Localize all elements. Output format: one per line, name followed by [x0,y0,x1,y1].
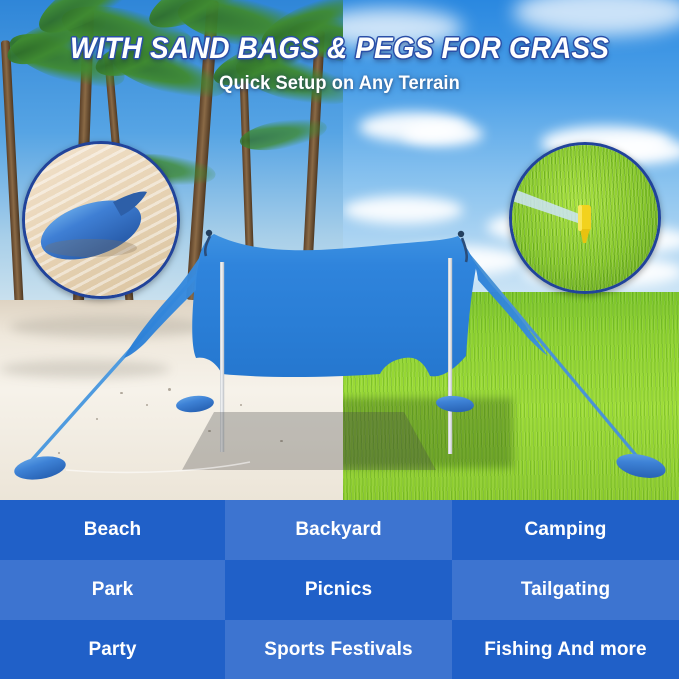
cloud-shape [343,196,463,224]
inset-sandbag-graphic [25,144,177,296]
grass-field-ground [343,292,679,500]
use-case-cell[interactable]: Picnics [225,560,452,620]
use-case-cell[interactable]: Beach [0,500,225,560]
ground-peg-highlight [578,205,582,231]
guy-line-into-peg [512,189,582,223]
sand-bag-shadow [45,239,137,257]
use-case-cell[interactable]: Party [0,620,225,679]
inset-peg-graphic [512,145,658,291]
sand-speck [240,404,242,406]
sand-speck [58,452,60,454]
page-title: WITH SAND BAGS & PEGS FOR GRASS [24,34,655,64]
product-infographic: WITH SAND BAGS & PEGS FOR GRASS Quick Se… [0,0,679,679]
sand-speck [120,392,123,394]
sand-shadow [10,316,210,338]
headline-block: WITH SAND BAGS & PEGS FOR GRASS Quick Se… [0,34,679,95]
sand-speck [146,404,148,406]
sandbag-detail-inset [22,141,180,299]
sand-speck [280,440,283,442]
use-case-grid: Beach Backyard Camping Park Picnics Tail… [0,500,679,679]
use-case-cell[interactable]: Sports Festivals [225,620,452,679]
use-case-cell[interactable]: Camping [452,500,679,560]
sand-speck [96,418,98,420]
ground-peg-detail-inset [509,142,661,294]
ground-peg-shaft [580,229,590,243]
sand-shadow [0,360,170,378]
grass-shadow [343,398,513,468]
use-case-cell[interactable]: Backyard [225,500,452,560]
page-subtitle: Quick Setup on Any Terrain [14,73,666,95]
sand-speck [208,430,211,432]
cloud-shape [403,122,483,146]
use-case-cell[interactable]: Tailgating [452,560,679,620]
cloud-shape [383,246,523,276]
use-case-cell[interactable]: Park [0,560,225,620]
sand-speck [168,388,171,391]
use-case-cell[interactable]: Fishing And more [452,620,679,679]
